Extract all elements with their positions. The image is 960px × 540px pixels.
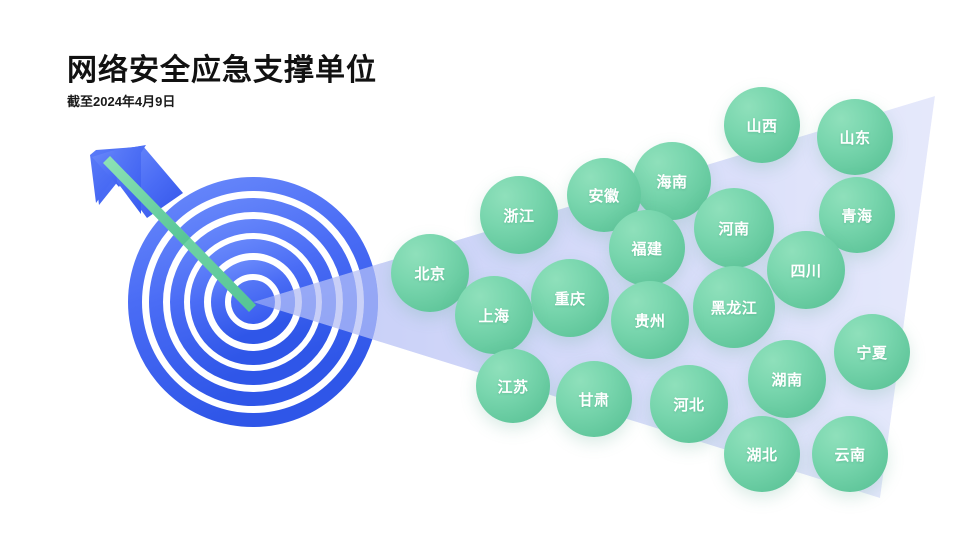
province-bubble-label: 湖南 <box>771 369 802 390</box>
province-bubble[interactable]: 福建 <box>609 210 685 286</box>
province-bubble[interactable]: 山西 <box>724 87 800 163</box>
province-bubble-label: 江苏 <box>497 376 528 397</box>
province-bubble-label: 安徽 <box>588 185 619 206</box>
title-block: 网络安全应急支撑单位 截至2024年4月9日 <box>67 52 377 111</box>
province-bubble[interactable]: 河北 <box>650 365 728 443</box>
province-bubble[interactable]: 湖北 <box>724 416 800 492</box>
infographic-canvas: 网络安全应急支撑单位 截至2024年4月9日 山西山东海南安徽青海浙江河南福建四… <box>0 0 960 540</box>
province-bubble-label: 宁夏 <box>856 342 887 363</box>
province-bubble-label: 上海 <box>478 305 509 326</box>
province-bubble-label: 海南 <box>656 171 687 192</box>
province-bubble-label: 黑龙江 <box>711 297 758 318</box>
province-bubble[interactable]: 黑龙江 <box>693 266 775 348</box>
province-bubble[interactable]: 湖南 <box>748 340 826 418</box>
province-bubble[interactable]: 上海 <box>455 276 533 354</box>
page-title: 网络安全应急支撑单位 <box>67 52 377 90</box>
province-bubble[interactable]: 甘肃 <box>556 361 632 437</box>
province-bubble[interactable]: 河南 <box>694 188 774 268</box>
province-bubble[interactable]: 重庆 <box>531 259 609 337</box>
province-bubble-label: 河南 <box>718 218 749 239</box>
province-bubble-label: 福建 <box>631 238 662 259</box>
province-bubble-label: 四川 <box>790 260 821 281</box>
province-bubble[interactable]: 四川 <box>767 231 845 309</box>
province-bubble-label: 甘肃 <box>578 389 609 410</box>
province-bubble[interactable]: 浙江 <box>480 176 558 254</box>
province-bubble-label: 山东 <box>839 127 870 148</box>
province-bubble-label: 重庆 <box>554 288 585 309</box>
province-bubble[interactable]: 山东 <box>817 99 893 175</box>
province-bubble-label: 湖北 <box>746 444 777 465</box>
province-bubble-label: 贵州 <box>634 310 665 331</box>
province-bubble-label: 河北 <box>673 394 704 415</box>
province-bubble[interactable]: 云南 <box>812 416 888 492</box>
province-bubble-label: 云南 <box>834 444 865 465</box>
province-bubble[interactable]: 宁夏 <box>834 314 910 390</box>
province-bubble-label: 山西 <box>746 115 777 136</box>
province-bubble[interactable]: 江苏 <box>476 349 550 423</box>
province-bubble-label: 青海 <box>841 205 872 226</box>
page-subtitle: 截至2024年4月9日 <box>67 93 377 111</box>
province-bubble[interactable]: 贵州 <box>611 281 689 359</box>
province-bubble-label: 北京 <box>414 263 445 284</box>
province-bubble-label: 浙江 <box>503 205 534 226</box>
